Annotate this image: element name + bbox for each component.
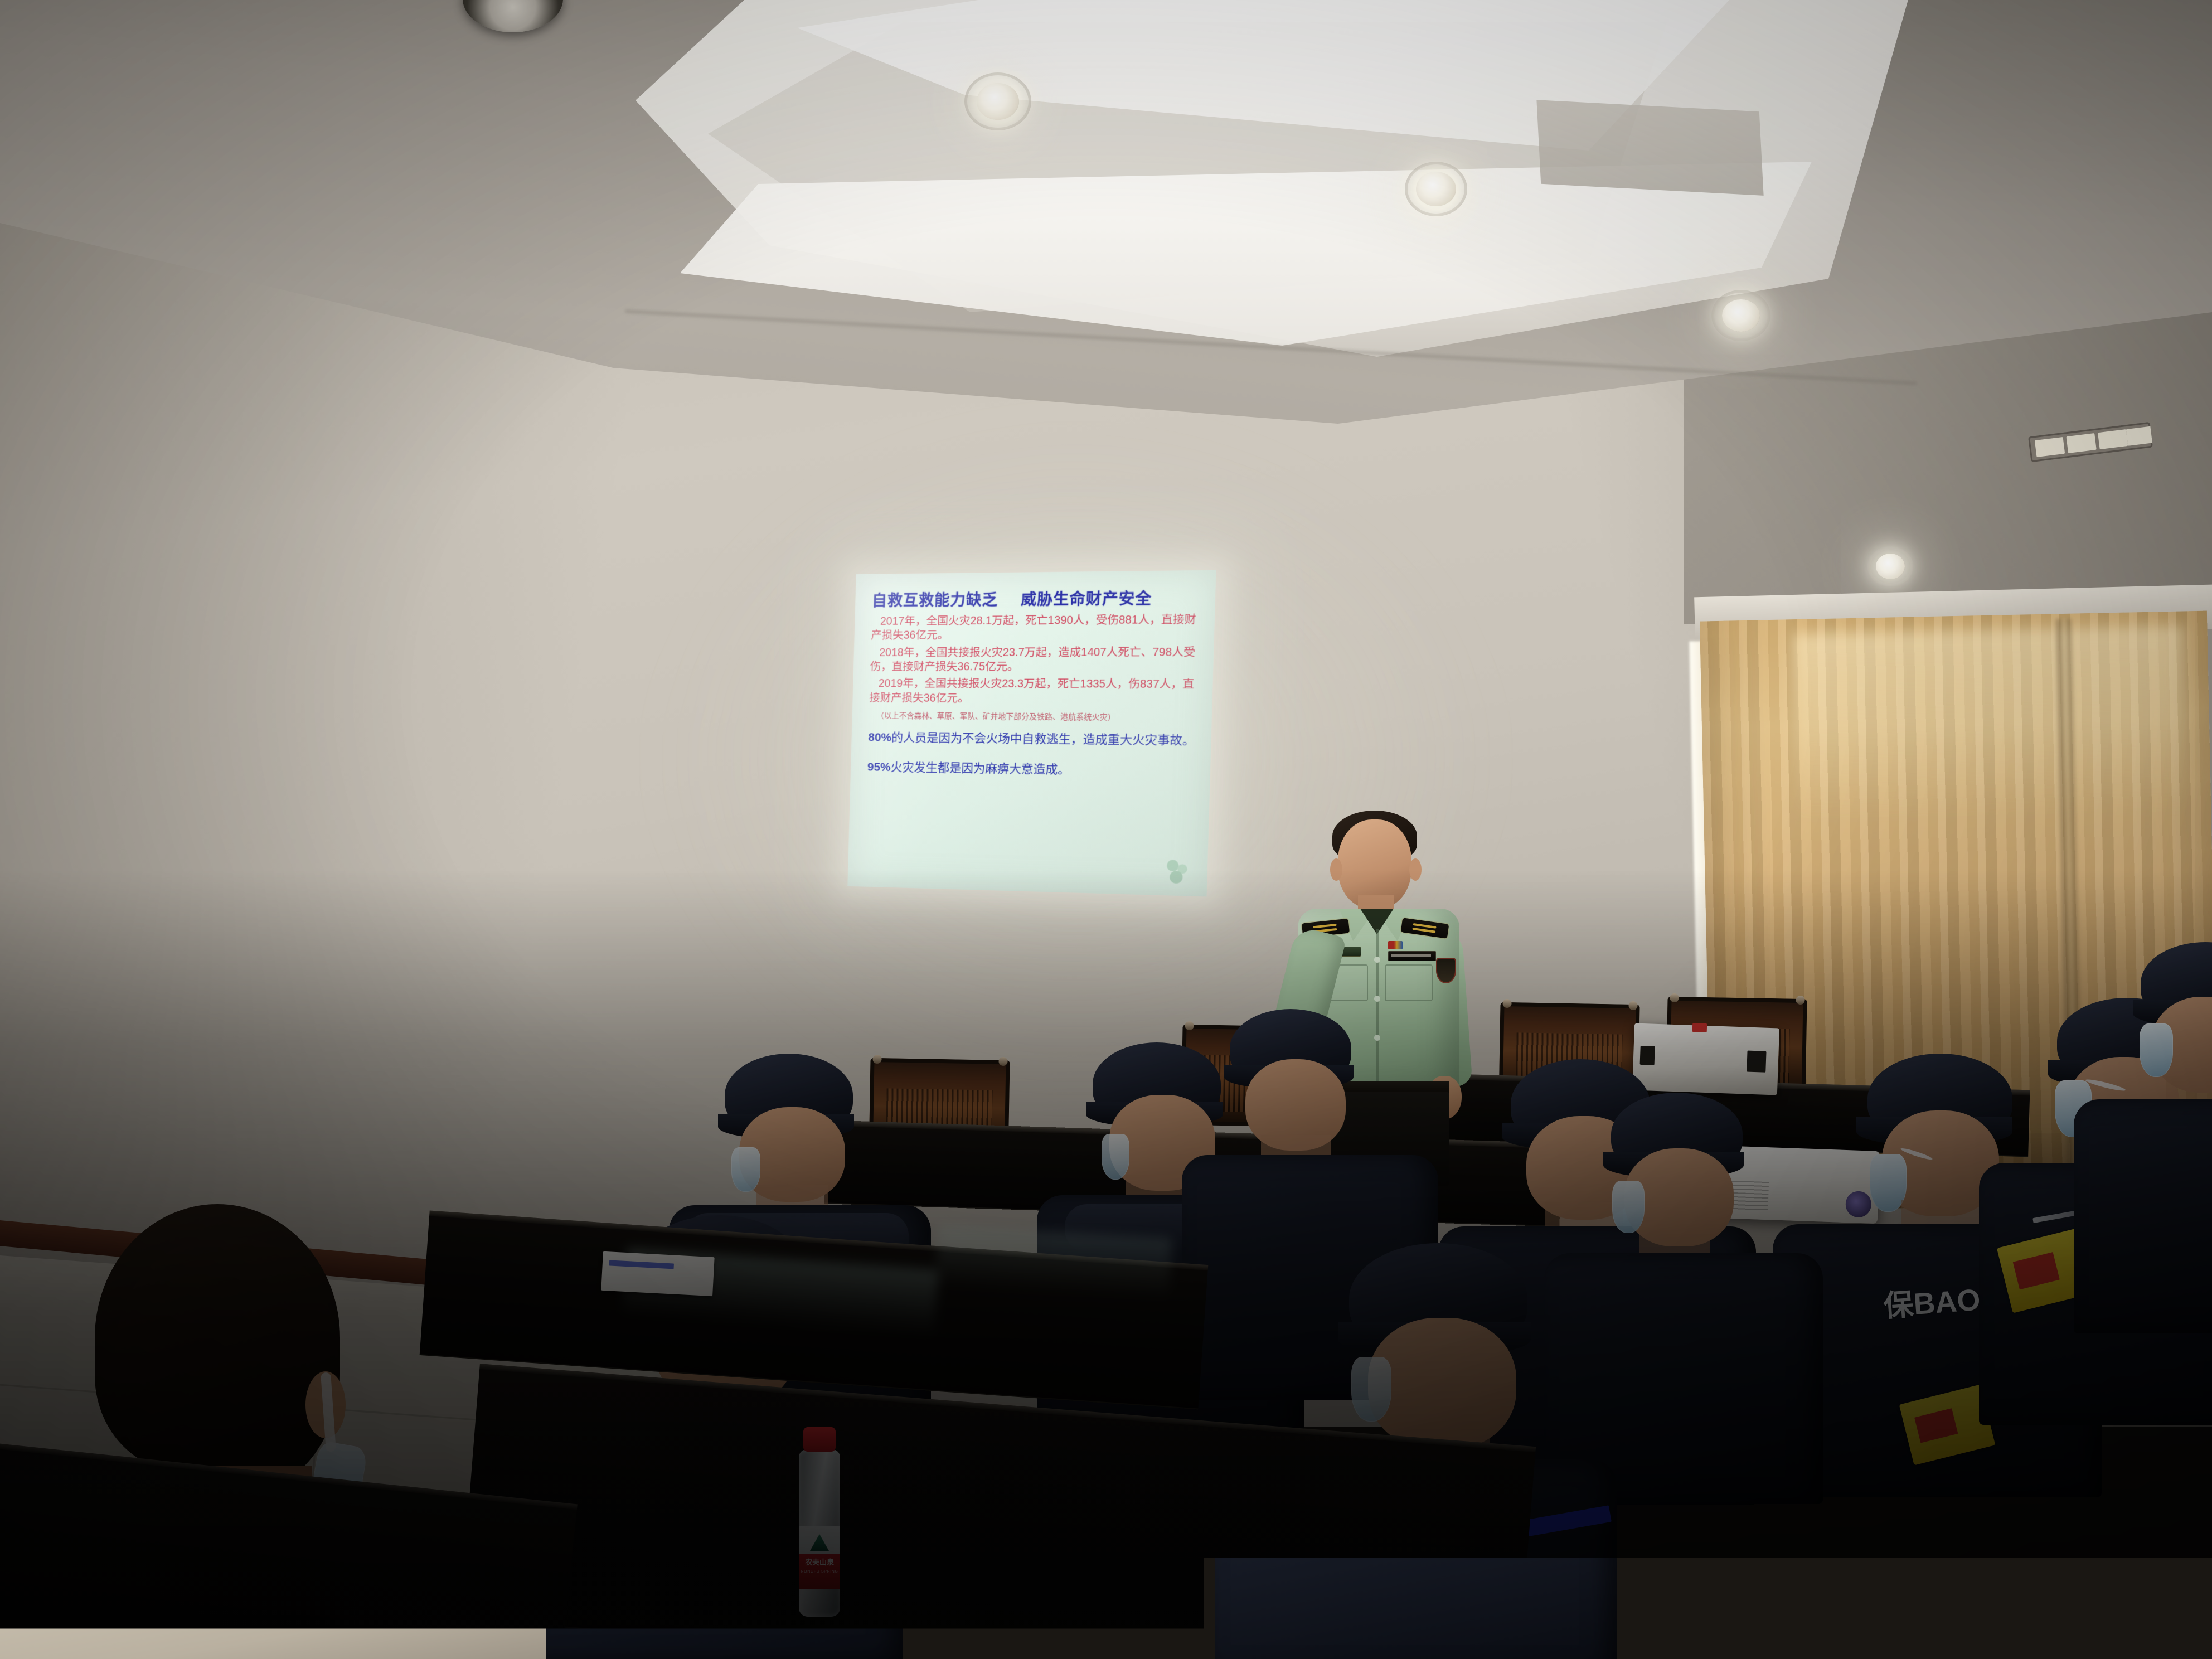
presenter-chest-pocket — [1385, 964, 1433, 1001]
ceiling-notch — [1536, 100, 1763, 196]
slide-highlight-2: 95%火灾发生都是因为麻痹大意造成。 — [867, 760, 1197, 779]
audience-member-seated-guard-8 — [1561, 1093, 1806, 1505]
downlight-icon — [1711, 290, 1770, 341]
slide-highlight-1-text: 的人员是因为不会火场中自救逃生，造成重大火灾事故。 — [891, 731, 1195, 748]
slide-highlight-2-pct: 95% — [867, 760, 891, 774]
slide-paragraph: 2018年，全国共接报火灾23.7万起，造成1407人死亡、798人受伤，直接财… — [870, 645, 1200, 675]
presenter-ear — [1330, 858, 1342, 881]
presenter-button — [1374, 996, 1380, 1002]
papers-on-desk — [601, 1251, 714, 1296]
presenter-ear — [1409, 858, 1422, 881]
head — [115, 1238, 338, 1494]
lecture-room-photo: 自救互救能力缺乏 威胁生命财产安全 2017年，全国火灾28.1万起，死亡139… — [0, 0, 2212, 1659]
desk-reflection — [935, 1226, 1172, 1299]
bottle-brand-cn: 农夫山泉 — [799, 1559, 840, 1566]
bottle-brand-en: NONGFU SPRING — [799, 1570, 840, 1574]
slide-title-right: 威胁生命财产安全 — [1021, 586, 1152, 609]
face-mask — [1102, 1134, 1129, 1180]
bottle-cap — [803, 1427, 836, 1452]
slide-watermark-icon — [1161, 856, 1195, 888]
slide-paragraph: 2017年，全国火灾28.1万起，死亡1390人，受伤881人，直接财产损失36… — [871, 613, 1201, 643]
face-mask — [1351, 1357, 1391, 1422]
face-mask — [2140, 1023, 2173, 1077]
slide-paragraph: 2019年，全国共接报火灾23.3万起，死亡1335人，伤837人，直接财产损失… — [869, 677, 1200, 707]
face-mask — [1612, 1181, 1645, 1233]
presenter-name-tag — [1388, 951, 1436, 961]
torso-uniform — [2074, 1099, 2212, 1333]
slide-highlight-2-text: 火灾发生都是因为麻痹大意造成。 — [890, 760, 1070, 776]
curtain-highlight — [1793, 626, 2187, 818]
slide-highlight-1-pct: 80% — [868, 731, 891, 744]
presenter-shoulder-patch-icon — [1436, 958, 1456, 983]
presenter-button — [1374, 957, 1380, 963]
presenter-flag-pin-icon — [1388, 941, 1403, 949]
downlight-icon — [1405, 162, 1467, 216]
downlight-icon — [964, 72, 1031, 130]
projected-slide: 自救互救能力缺乏 威胁生命财产安全 2017年，全国火灾28.1万起，死亡139… — [847, 570, 1216, 897]
audience-member-seated-guard-7 — [2074, 942, 2212, 1332]
slide-highlight-1: 80%的人员是因为不会火场中自救逃生，造成重大火灾事故。 — [868, 730, 1198, 749]
slide-title-left: 自救互救能力缺乏 — [872, 588, 998, 610]
slide-footnote: （以上不含森林、草原、军队、矿井地下部分及铁路、港航系统火灾） — [876, 709, 1199, 722]
slide-body: 2017年，全国火灾28.1万起，死亡1390人，受伤881人，直接财产损失36… — [869, 613, 1202, 707]
water-bottle[interactable]: 农夫山泉 NONGFU SPRING — [780, 1427, 858, 1650]
downlight-icon — [1867, 546, 1913, 586]
slide-title: 自救互救能力缺乏 威胁生命财产安全 — [872, 585, 1202, 610]
